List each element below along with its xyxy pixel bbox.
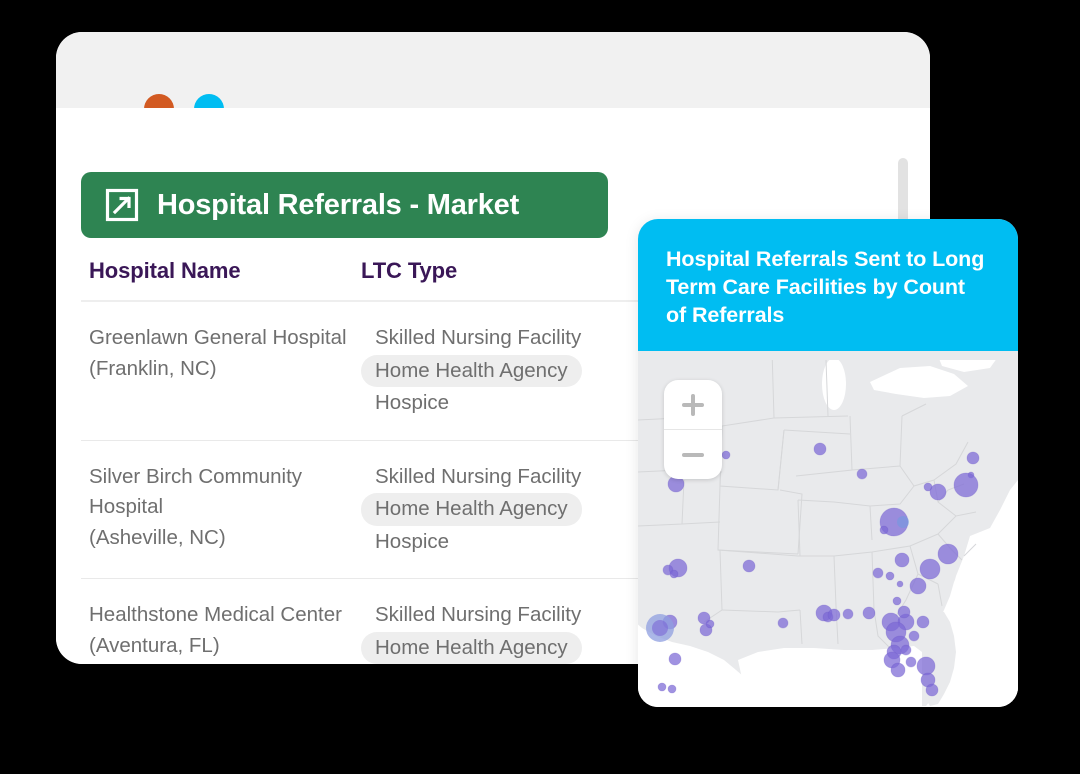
ltc-type-line: Hospice [361, 526, 681, 559]
section-header-title: Hospital Referrals - Market [157, 189, 519, 222]
ltc-type-line: Home Health Agency [361, 493, 681, 526]
cell-hospital-name: Healthstone Medical Center (Aventura, FL… [89, 599, 361, 664]
map-card: Hospital Referrals Sent to Long Term Car… [638, 219, 1018, 707]
window-title-bar [56, 32, 930, 108]
section-header-banner[interactable]: Hospital Referrals - Market [81, 172, 608, 238]
map-zoom-controls[interactable] [664, 380, 722, 479]
hospital-name-text: Healthstone Medical Center [89, 603, 342, 626]
ltc-type-line: Skilled Nursing Facility [361, 461, 681, 494]
ltc-type-chip[interactable]: Skilled Nursing Facility [361, 461, 595, 494]
ltc-type-chip-selected[interactable]: Home Health Agency [361, 632, 582, 665]
ltc-type-chip[interactable]: Skilled Nursing Facility [361, 599, 595, 632]
screenshot-stage: Hospital Referrals - Market Hospital Nam… [0, 0, 1080, 774]
map-card-title: Hospital Referrals Sent to Long Term Car… [666, 245, 990, 329]
ltc-type-line: Skilled Nursing Facility [361, 322, 681, 355]
ltc-type-chip[interactable]: Hospice [361, 526, 463, 559]
cell-ltc-types: Skilled Nursing Facility Home Health Age… [361, 461, 681, 559]
map-zoom-in-button[interactable] [664, 380, 722, 429]
cell-ltc-types: Skilled Nursing Facility Home Health Age… [361, 599, 681, 664]
ltc-type-chip[interactable]: Hospice [361, 387, 463, 420]
ltc-type-line: Home Health Agency [361, 355, 681, 388]
hospital-location-text: (Asheville, NC) [89, 523, 361, 554]
map-zoom-out-button[interactable] [664, 429, 722, 479]
ltc-type-line: Hospice [361, 387, 681, 420]
ltc-type-line: Home Health Agency [361, 632, 681, 665]
map-card-header: Hospital Referrals Sent to Long Term Car… [638, 219, 1018, 351]
hospital-location-text: (Franklin, NC) [89, 354, 361, 385]
plus-icon-vertical [691, 394, 695, 416]
map-canvas[interactable] [638, 360, 1018, 707]
hospital-name-text: Greenlawn General Hospital [89, 326, 347, 349]
ltc-type-chip-selected[interactable]: Home Health Agency [361, 493, 582, 526]
ltc-type-chip-selected[interactable]: Home Health Agency [361, 355, 582, 388]
external-link-arrow-icon [105, 188, 139, 222]
column-header-ltc-type: LTC Type [361, 258, 681, 284]
cell-ltc-types: Skilled Nursing Facility Home Health Age… [361, 322, 681, 420]
column-header-hospital-name: Hospital Name [89, 258, 361, 284]
cell-hospital-name: Silver Birch Community Hospital (Ashevil… [89, 461, 361, 559]
minus-icon [682, 453, 704, 457]
ltc-type-line: Skilled Nursing Facility [361, 599, 681, 632]
hospital-name-text: Silver Birch Community Hospital [89, 465, 302, 519]
ltc-type-chip[interactable]: Skilled Nursing Facility [361, 322, 595, 355]
hospital-location-text: (Aventura, FL) [89, 631, 361, 662]
cell-hospital-name: Greenlawn General Hospital (Franklin, NC… [89, 322, 361, 420]
